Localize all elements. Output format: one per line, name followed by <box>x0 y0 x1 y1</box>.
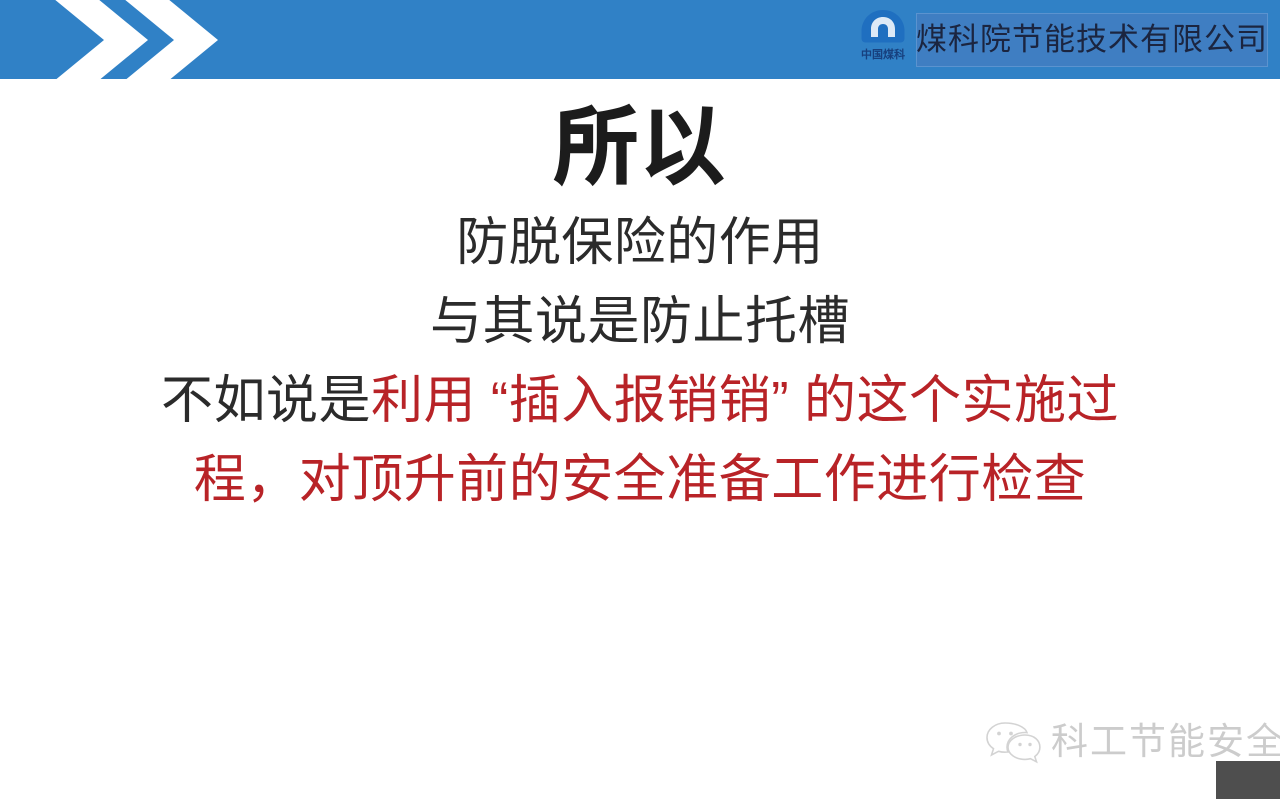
body-line-2: 与其说是防止托槽 <box>0 283 1280 362</box>
brand-logo: 中国煤科 <box>849 8 917 72</box>
body-line-2-segment-1: 与其说是防止托槽 <box>430 293 850 351</box>
company-name-box: 煤科院节能技术有限公司 <box>916 13 1268 67</box>
body-line-4-segment-1: 程，对顶升前的安全准备工作进行检查 <box>194 451 1087 509</box>
body-line-4: 程，对顶升前的安全准备工作进行检查 <box>0 441 1280 520</box>
company-name-text: 煤科院节能技术有限公司 <box>916 23 1268 57</box>
slide-content-area: 所以 防脱保险的作用 与其说是防止托槽 不如说是利用 “插入报销销” 的这个实施… <box>0 79 1280 720</box>
china-coal-emblem-icon <box>859 8 907 48</box>
body-line-3-segment-1: 不如说是 <box>161 372 371 430</box>
body-line-1: 防脱保险的作用 <box>0 204 1280 283</box>
wechat-icon <box>985 719 1041 765</box>
slide-header-bar: 中国煤科 煤科院节能技术有限公司 <box>0 0 1280 79</box>
page-title: 所以 <box>0 101 1280 193</box>
slide-body-text: 防脱保险的作用 与其说是防止托槽 不如说是利用 “插入报销销” 的这个实施过 程… <box>0 204 1280 520</box>
wechat-watermark: 科工节能安全 <box>985 719 1280 765</box>
body-line-3-segment-2: 利用 “插入报销销” 的这个实施过 <box>371 372 1119 430</box>
body-line-1-segment-1: 防脱保险的作用 <box>456 214 824 272</box>
chevron-right-icon-2 <box>118 0 238 79</box>
brand-logo-caption: 中国煤科 <box>849 49 917 61</box>
corner-redaction-block <box>1216 761 1280 799</box>
wechat-watermark-label: 科工节能安全 <box>1051 722 1280 762</box>
body-line-3: 不如说是利用 “插入报销销” 的这个实施过 <box>0 362 1280 441</box>
